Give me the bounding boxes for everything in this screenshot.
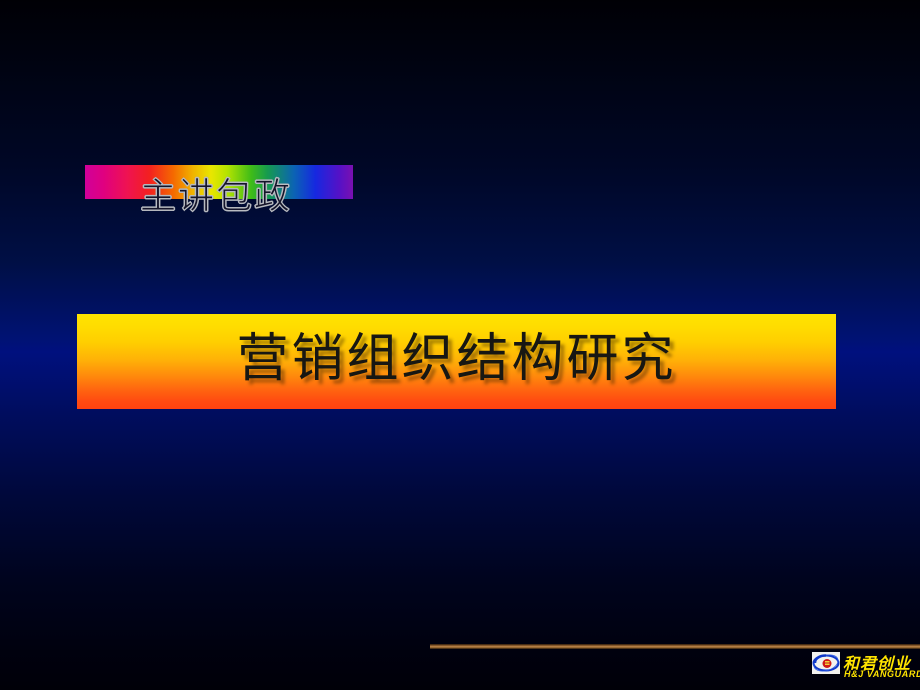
slide-title: 营销组织结构研究 (236, 334, 676, 386)
slide-subtitle: 主讲包政 (140, 170, 360, 222)
presentation-slide: 主讲包政 营销组织结构研究 和君创业 H&J VANGUARD (0, 0, 920, 690)
title-banner: 营销组织结构研究 (77, 314, 836, 409)
company-logo: 和君创业 H&J VANGUARD (812, 651, 918, 685)
logo-company-name-en: H&J VANGUARD (844, 669, 920, 679)
hj-vanguard-logo-icon (812, 652, 840, 674)
footer-divider-rule (430, 644, 920, 649)
